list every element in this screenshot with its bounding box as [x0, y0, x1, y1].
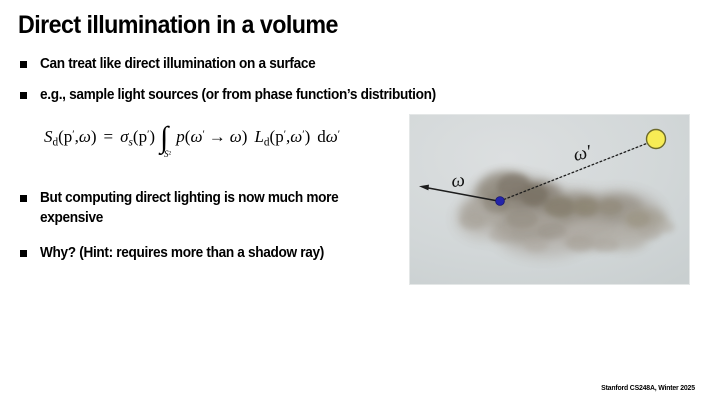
bullet-item-3: But computing direct lighting is now muc… [20, 188, 400, 228]
bullet-item-1: Can treat like direct illumination on a … [20, 54, 333, 74]
page-title: Direct illumination in a volume [18, 10, 338, 40]
bullet-item-2: e.g., sample light sources (or from phas… [20, 85, 461, 105]
light-source-icon [647, 130, 666, 149]
bullet-square-icon [20, 250, 27, 257]
scatter-point-marker [496, 197, 505, 206]
slide-footer: Stanford CS248A, Winter 2025 [601, 383, 695, 392]
view-direction-label: ω [450, 170, 466, 192]
bullet-item-1-label: Can treat like direct illumination on a … [40, 54, 315, 74]
bullet-square-icon [20, 61, 27, 68]
slide-canvas: Direct illumination in a volume Can trea… [0, 0, 711, 400]
bullet-item-2-label: e.g., sample light sources (or from phas… [40, 85, 436, 105]
integral-sign: ∫S2 [160, 129, 168, 147]
bullet-item-4: Why? (Hint: requires more than a shadow … [20, 243, 342, 263]
bullet-square-icon [20, 195, 27, 202]
direct-illumination-equation: Sd(p′,ω)=σs(p′)∫S2p(ω′→ω)Ld(p′,ω′)dω′ [44, 128, 340, 149]
bullet-item-3-label: But computing direct lighting is now muc… [40, 188, 369, 228]
bullet-square-icon [20, 92, 27, 99]
bullet-item-4-label: Why? (Hint: requires more than a shadow … [40, 243, 324, 263]
volume-scattering-figure: ω ω′ [409, 114, 690, 285]
